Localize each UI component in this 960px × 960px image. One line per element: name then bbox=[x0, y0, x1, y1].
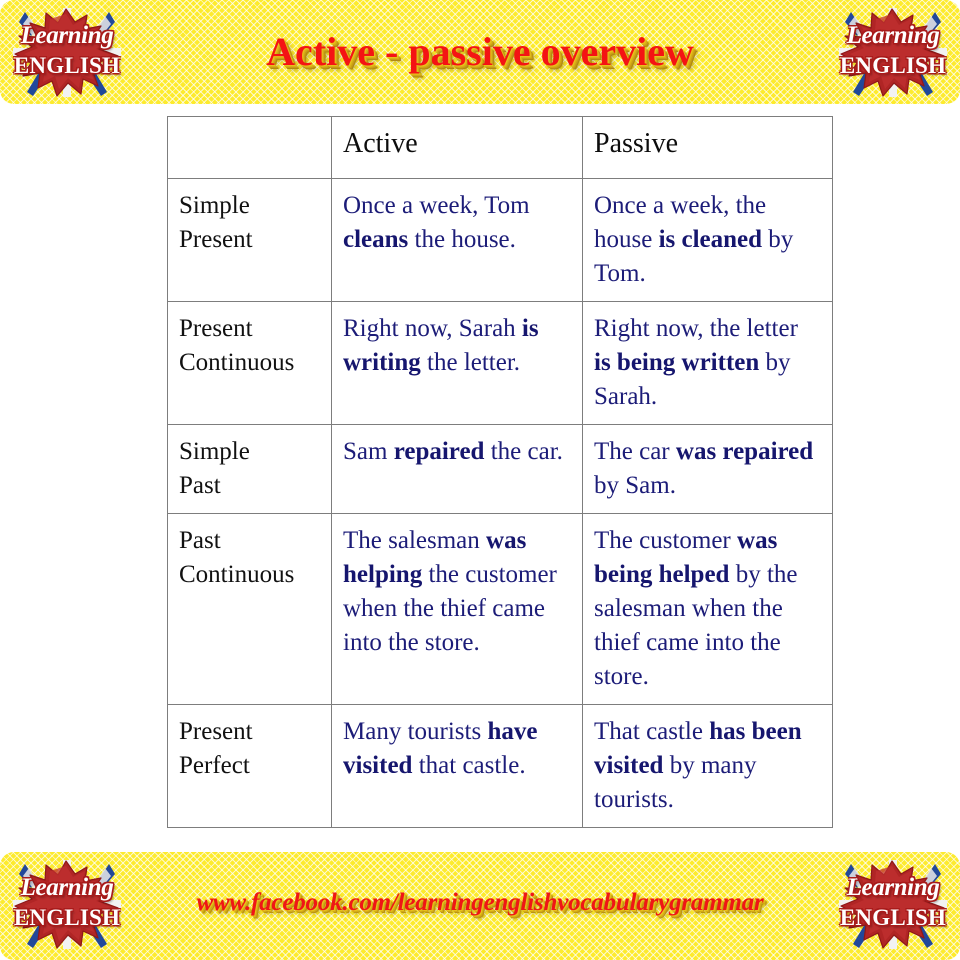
active-passive-table: Active Passive Simple Present Once a wee… bbox=[167, 116, 833, 828]
table-row: Simple Past Sam repaired the car. The ca… bbox=[168, 425, 833, 514]
tense-label-line2: Past bbox=[179, 472, 221, 499]
poster-root: Active - passive overview bbox=[0, 0, 960, 960]
active-text-pre: The salesman bbox=[343, 527, 486, 554]
tense-label-line2: Continuous bbox=[179, 561, 294, 588]
red-splat-icon bbox=[837, 858, 949, 950]
passive-text-bold: was repaired bbox=[676, 438, 813, 465]
active-text-post: that castle. bbox=[412, 752, 525, 779]
red-splat-icon bbox=[11, 6, 123, 98]
passive-sentence-cell: Right now, the letter is being written b… bbox=[583, 302, 833, 425]
tense-label-line1: Present bbox=[179, 718, 253, 745]
tense-label-line2: Present bbox=[179, 226, 253, 253]
learning-english-logo-top-left: Learning ENGLISH bbox=[2, 0, 132, 104]
red-splat-icon bbox=[11, 858, 123, 950]
column-header-blank bbox=[168, 117, 332, 179]
active-text-post: the house. bbox=[408, 226, 516, 253]
learning-english-logo-top-right: Learning ENGLISH bbox=[828, 0, 958, 104]
active-sentence-cell: The salesman was helping the customer wh… bbox=[332, 514, 583, 705]
column-header-active: Active bbox=[332, 117, 583, 179]
tense-label-cell: Past Continuous bbox=[168, 514, 332, 705]
table-row: Past Continuous The salesman was helping… bbox=[168, 514, 833, 705]
passive-text-post: by Sam. bbox=[594, 472, 676, 499]
active-sentence-cell: Sam repaired the car. bbox=[332, 425, 583, 514]
tense-label-line1: Past bbox=[179, 527, 221, 554]
active-text-post: the letter. bbox=[421, 349, 520, 376]
passive-text-pre: The car bbox=[594, 438, 676, 465]
active-text-pre: Once a week, Tom bbox=[343, 192, 530, 219]
passive-sentence-cell: The car was repaired by Sam. bbox=[583, 425, 833, 514]
red-splat-icon bbox=[837, 6, 949, 98]
passive-sentence-cell: The customer was being helped by the sal… bbox=[583, 514, 833, 705]
passive-text-bold: is being written bbox=[594, 349, 759, 376]
active-text-post: the car. bbox=[484, 438, 562, 465]
learning-english-logo-bottom-right: Learning ENGLISH bbox=[828, 852, 958, 956]
active-text-pre: Many tourists bbox=[343, 718, 487, 745]
active-text-pre: Sam bbox=[343, 438, 394, 465]
active-sentence-cell: Right now, Sarah is writing the letter. bbox=[332, 302, 583, 425]
passive-text-pre: That castle bbox=[594, 718, 709, 745]
active-text-bold: cleans bbox=[343, 226, 408, 253]
passive-text-pre: The customer bbox=[594, 527, 737, 554]
table-row: Present Continuous Right now, Sarah is w… bbox=[168, 302, 833, 425]
table-header-row: Active Passive bbox=[168, 117, 833, 179]
tense-label-cell: Present Perfect bbox=[168, 705, 332, 828]
passive-text-pre: Right now, the letter bbox=[594, 315, 798, 342]
column-header-passive: Passive bbox=[583, 117, 833, 179]
tense-label-cell: Simple Present bbox=[168, 179, 332, 302]
table-row: Present Perfect Many tourists have visit… bbox=[168, 705, 833, 828]
tense-label-line1: Present bbox=[179, 315, 253, 342]
learning-english-logo-bottom-left: Learning ENGLISH bbox=[2, 852, 132, 956]
active-text-pre: Right now, Sarah bbox=[343, 315, 522, 342]
passive-sentence-cell: That castle has been visited by many tou… bbox=[583, 705, 833, 828]
tense-label-line2: Perfect bbox=[179, 752, 250, 779]
tense-label-cell: Present Continuous bbox=[168, 302, 332, 425]
active-sentence-cell: Once a week, Tom cleans the house. bbox=[332, 179, 583, 302]
tense-label-line2: Continuous bbox=[179, 349, 294, 376]
active-sentence-cell: Many tourists have visited that castle. bbox=[332, 705, 583, 828]
active-text-bold: repaired bbox=[394, 438, 485, 465]
tense-label-cell: Simple Past bbox=[168, 425, 332, 514]
table-row: Simple Present Once a week, Tom cleans t… bbox=[168, 179, 833, 302]
tense-label-line1: Simple bbox=[179, 438, 250, 465]
facebook-url[interactable]: www.facebook.com/learningenglishvocabula… bbox=[140, 888, 820, 918]
table-viewport: Active Passive Simple Present Once a wee… bbox=[0, 104, 960, 852]
passive-sentence-cell: Once a week, the house is cleaned by Tom… bbox=[583, 179, 833, 302]
passive-text-bold: is cleaned bbox=[659, 226, 762, 253]
page-title: Active - passive overview bbox=[140, 26, 820, 78]
tense-label-line1: Simple bbox=[179, 192, 250, 219]
